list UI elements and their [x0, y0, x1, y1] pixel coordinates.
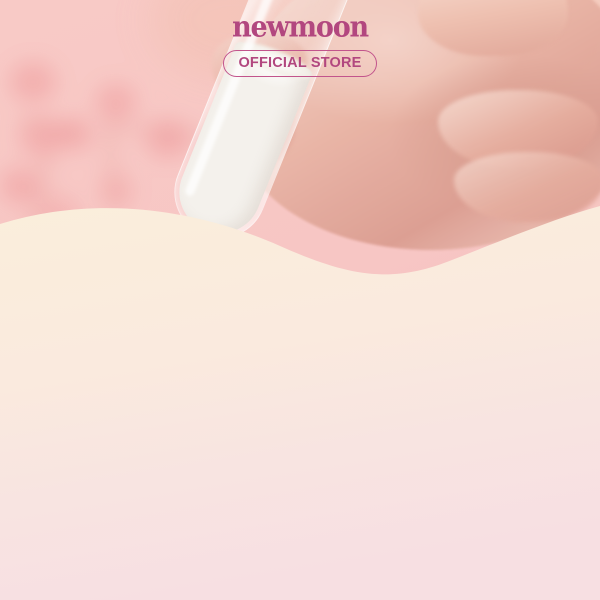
brand-logo: newmoon — [0, 13, 600, 42]
petal-icon — [56, 118, 92, 150]
petal-icon — [96, 84, 136, 120]
official-store-badge: OFFICIAL STORE — [223, 50, 376, 77]
brand-header: newmoon OFFICIAL STORE — [0, 14, 600, 77]
cream-wave-panel — [0, 180, 600, 600]
petal-icon — [146, 120, 190, 158]
promo-canvas: newmoon OFFICIAL STORE PCOS Management P… — [0, 0, 600, 600]
